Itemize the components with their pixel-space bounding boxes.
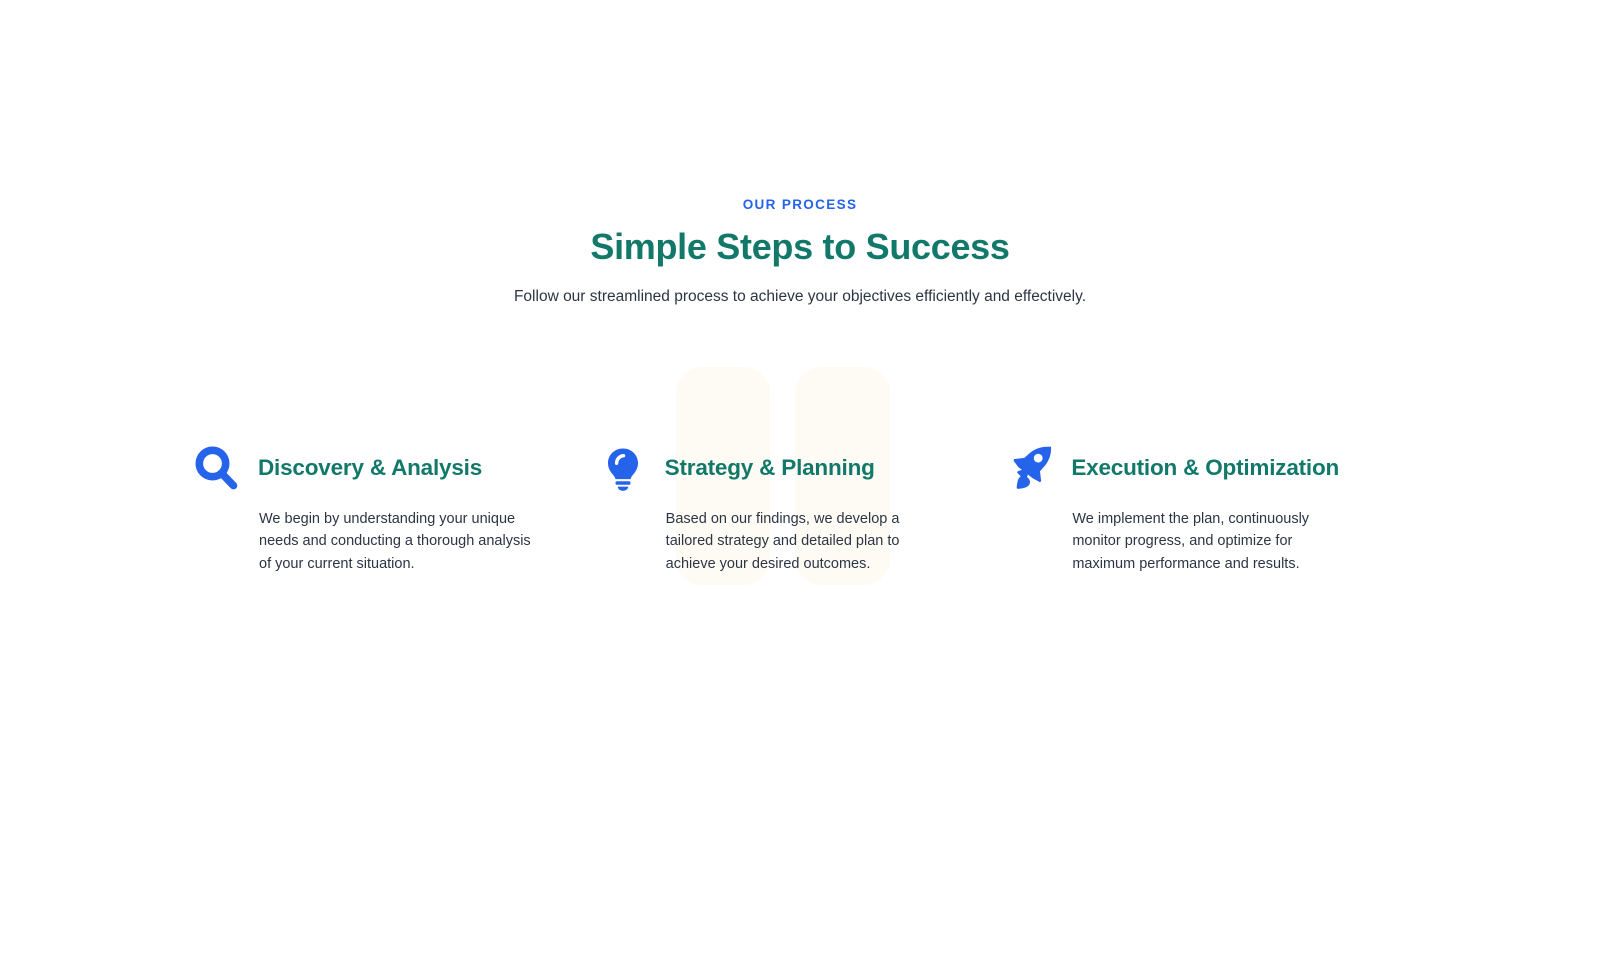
step-title-execution: Execution & Optimization <box>1071 453 1339 483</box>
section-header: OUR PROCESS Simple Steps to Success Foll… <box>0 195 1600 309</box>
step-description-strategy: Based on our findings, we develop a tail… <box>666 508 918 575</box>
step-description-discovery: We begin by understanding your unique ne… <box>259 508 539 575</box>
step-header-discovery: Discovery & Analysis <box>190 440 597 496</box>
step-title-strategy: Strategy & Planning <box>665 453 875 483</box>
steps-row: Discovery & Analysis We begin by underst… <box>190 440 1410 575</box>
section-subtitle: Follow our streamlined process to achiev… <box>0 285 1600 309</box>
step-header-strategy: Strategy & Planning <box>597 440 1004 496</box>
step-card-strategy: Strategy & Planning Based on our finding… <box>597 440 1004 575</box>
step-card-discovery: Discovery & Analysis We begin by underst… <box>190 440 597 575</box>
step-header-execution: Execution & Optimization <box>1003 440 1410 496</box>
magnifier-icon <box>190 442 242 494</box>
step-title-discovery: Discovery & Analysis <box>258 453 482 483</box>
step-description-execution: We implement the plan, continuously moni… <box>1072 508 1324 575</box>
process-section: OUR PROCESS Simple Steps to Success Foll… <box>0 0 1600 978</box>
rocket-icon <box>1003 442 1055 494</box>
lightbulb-icon <box>597 442 649 494</box>
step-card-execution: Execution & Optimization We implement th… <box>1003 440 1410 575</box>
page-title: Simple Steps to Success <box>0 225 1600 269</box>
section-eyebrow: OUR PROCESS <box>0 195 1600 215</box>
